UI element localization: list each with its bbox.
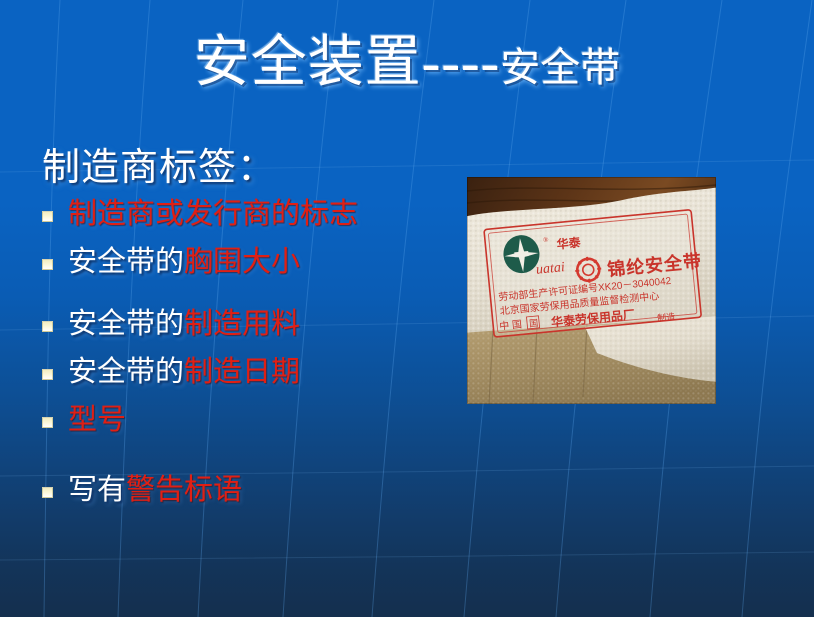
list-item: 安全带的胸围大小 (42, 244, 412, 284)
list-item-text: 写有警告标语 (68, 472, 242, 510)
svg-text:uatai: uatai (535, 260, 565, 278)
list-item-text-plain: 安全带的 (68, 356, 184, 388)
list-item-text-highlight: 型号 (68, 404, 126, 436)
square-bullet-icon (42, 321, 53, 332)
slide-title-main: 安全装置---- (194, 32, 501, 94)
list-item-text-plain: 安全带的 (68, 308, 184, 340)
list-item-text-plain: 写有 (68, 474, 126, 506)
list-item-text: 安全带的制造日期 (68, 354, 300, 392)
svg-text:华泰: 华泰 (556, 234, 582, 251)
list-item-text-highlight: 制造商或发行商的标志 (68, 198, 358, 230)
list-item: 安全带的制造日期 (42, 354, 412, 394)
content-heading: 制造商标签： (42, 136, 276, 191)
square-bullet-icon (42, 417, 53, 428)
list-item: 型号 (42, 402, 412, 442)
square-bullet-icon (42, 259, 53, 270)
list-item-text: 安全带的胸围大小 (68, 244, 300, 282)
square-bullet-icon (42, 369, 53, 380)
square-bullet-icon (42, 487, 53, 498)
list-item: 安全带的制造用料 (42, 306, 412, 346)
slide-title: 安全装置----安全带 (0, 34, 814, 93)
list-item: 写有警告标语 (42, 472, 412, 512)
square-bullet-icon (42, 211, 53, 222)
svg-text:国: 国 (529, 318, 539, 329)
list-item-text-highlight: 制造用料 (184, 308, 300, 340)
list-item-text-highlight: 制造日期 (184, 356, 300, 388)
list-item-text: 制造商或发行商的标志 (68, 196, 358, 234)
list-item: 制造商或发行商的标志 (42, 196, 412, 236)
slide-title-sub: 安全带 (500, 45, 620, 90)
list-item-text: 型号 (68, 402, 126, 440)
slide: 安全装置----安全带 制造商标签： 制造商或发行商的标志 安全带的胸围大小 安… (0, 0, 814, 617)
svg-text:制造: 制造 (657, 311, 676, 324)
safety-belt-label-photo: ® 华泰 uatai (467, 177, 716, 404)
bullet-list: 制造商或发行商的标志 安全带的胸围大小 安全带的制造用料 安全带的制造日期 型号… (42, 196, 412, 520)
list-item-text-highlight: 警告标语 (126, 474, 242, 506)
list-item-text: 安全带的制造用料 (68, 306, 300, 344)
list-item-text-highlight: 胸围大小 (184, 246, 300, 278)
list-item-text-plain: 安全带的 (68, 246, 184, 278)
